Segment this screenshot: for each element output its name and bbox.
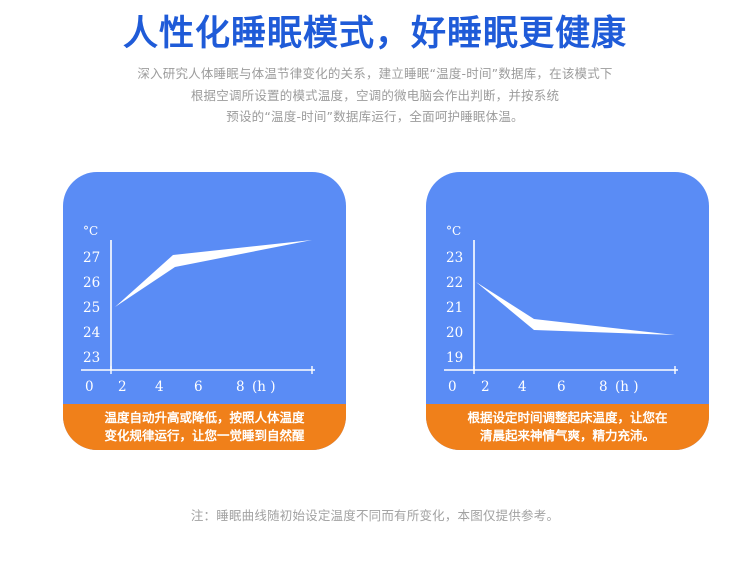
y-tick-27: 27 xyxy=(83,250,100,266)
wake-temperature-fall-chart: °C 23 22 21 20 19 0 2 4 6 8 (h ) xyxy=(426,172,709,404)
y-tick-19: 19 xyxy=(446,350,463,366)
subtitle-block: 深入研究人体睡眠与体温节律变化的关系，建立睡眠“温度-时间”数据库，在该模式下 … xyxy=(0,63,750,128)
y-tick-23: 23 xyxy=(83,350,100,366)
x-tick-6: 6 xyxy=(557,379,566,395)
footnote-text: 注：睡眠曲线随初始设定温度不同而有所变化，本图仅提供参考。 xyxy=(0,505,750,524)
caption-line-1: 温度自动升高或降低，按照人体温度 xyxy=(104,409,304,427)
caption-line-1: 根据设定时间调整起床温度，让您在 xyxy=(467,409,667,427)
x-tick-8: 8 xyxy=(236,379,245,395)
x-tick-4: 4 xyxy=(155,379,164,395)
temperature-fall-curve xyxy=(476,282,675,335)
y-tick-21: 21 xyxy=(446,300,463,316)
x-tick-0: 0 xyxy=(85,379,94,395)
rise-chart-svg: °C 27 26 25 24 23 0 2 4 6 8 (h ) xyxy=(63,172,346,404)
y-tick-24: 24 xyxy=(83,325,100,341)
x-tick-2: 2 xyxy=(118,379,127,395)
cards-row: °C 27 26 25 24 23 0 2 4 6 8 (h ) xyxy=(0,172,750,452)
x-tick-8: 8 xyxy=(599,379,608,395)
wake-cool-caption: 根据设定时间调整起床温度，让您在 清晨起来神情气爽，精力充沛。 xyxy=(426,404,709,450)
temperature-rise-curve xyxy=(115,240,312,307)
y-axis-unit-label: °C xyxy=(83,224,98,238)
sleep-warm-card: °C 27 26 25 24 23 0 2 4 6 8 (h ) xyxy=(63,172,346,450)
x-axis-unit-label: (h ) xyxy=(252,379,276,395)
x-tick-6: 6 xyxy=(194,379,203,395)
x-tick-2: 2 xyxy=(481,379,490,395)
y-tick-23: 23 xyxy=(446,250,463,266)
subtitle-line-3: 预设的“温度-时间”数据库运行，全面呵护睡眠体温。 xyxy=(0,106,750,128)
fall-chart-svg: °C 23 22 21 20 19 0 2 4 6 8 (h ) xyxy=(426,172,709,404)
y-axis-unit-label: °C xyxy=(446,224,461,238)
sleep-warm-caption: 温度自动升高或降低，按照人体温度 变化规律运行，让您一觉睡到自然醒 xyxy=(63,404,346,450)
subtitle-line-1: 深入研究人体睡眠与体温节律变化的关系，建立睡眠“温度-时间”数据库，在该模式下 xyxy=(0,63,750,85)
header-block: 人性化睡眠模式，好睡眠更健康 深入研究人体睡眠与体温节律变化的关系，建立睡眠“温… xyxy=(0,0,750,128)
caption-line-2: 清晨起来神情气爽，精力充沛。 xyxy=(480,427,655,445)
y-tick-25: 25 xyxy=(83,300,100,316)
sleep-temperature-rise-chart: °C 27 26 25 24 23 0 2 4 6 8 (h ) xyxy=(63,172,346,404)
y-tick-22: 22 xyxy=(446,275,463,291)
x-axis-unit-label: (h ) xyxy=(615,379,639,395)
page-title: 人性化睡眠模式，好睡眠更健康 xyxy=(0,14,750,55)
x-tick-4: 4 xyxy=(518,379,527,395)
caption-line-2: 变化规律运行，让您一觉睡到自然醒 xyxy=(104,427,304,445)
y-tick-20: 20 xyxy=(446,325,463,341)
y-tick-26: 26 xyxy=(83,275,100,291)
x-tick-0: 0 xyxy=(448,379,457,395)
subtitle-line-2: 根据空调所设置的模式温度，空调的微电脑会作出判断，并按系统 xyxy=(0,85,750,107)
wake-cool-card: °C 23 22 21 20 19 0 2 4 6 8 (h ) xyxy=(426,172,709,450)
